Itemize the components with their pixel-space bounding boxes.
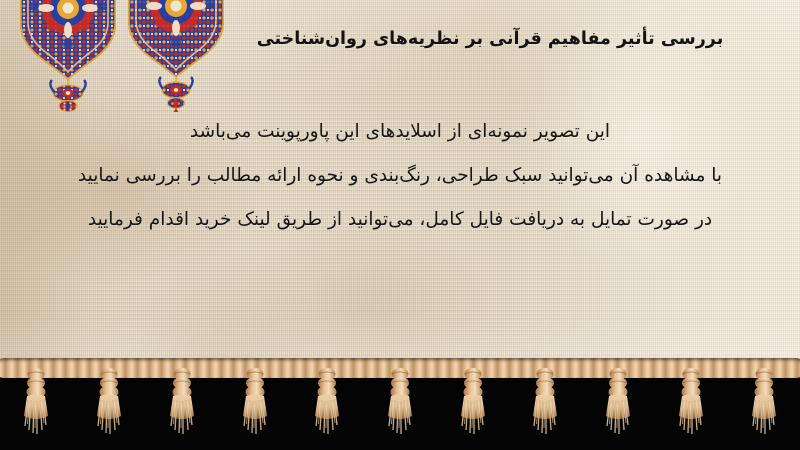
tassel [89, 364, 129, 442]
tassel [598, 364, 638, 442]
tassel [380, 364, 420, 442]
tassel [744, 364, 784, 442]
tassel-group [0, 368, 800, 450]
slide-title: بررسی تأثیر مفاهیم قرآنی بر نظریه‌های رو… [210, 28, 770, 52]
tassel [525, 364, 565, 442]
slide-body-line-3: در صورت تمایل به دریافت فایل کامل، می‌تو… [0, 198, 800, 242]
tassel [235, 364, 275, 442]
presentation-slide: بررسی تأثیر مفاهیم قرآنی بر نظریه‌های رو… [0, 0, 800, 450]
slide-body: این تصویر نمونه‌ای از اسلایدهای این پاور… [0, 110, 800, 242]
slide-body-line-1: این تصویر نمونه‌ای از اسلایدهای این پاور… [0, 110, 800, 154]
tassel [671, 364, 711, 442]
tassel [16, 364, 56, 442]
slide-body-line-2: با مشاهده آن می‌توانید سبک طراحی، رنگ‌بن… [0, 154, 800, 198]
tassel [307, 364, 347, 442]
tassel-fringe-border [0, 368, 800, 450]
tassel [453, 364, 493, 442]
tassel [162, 364, 202, 442]
